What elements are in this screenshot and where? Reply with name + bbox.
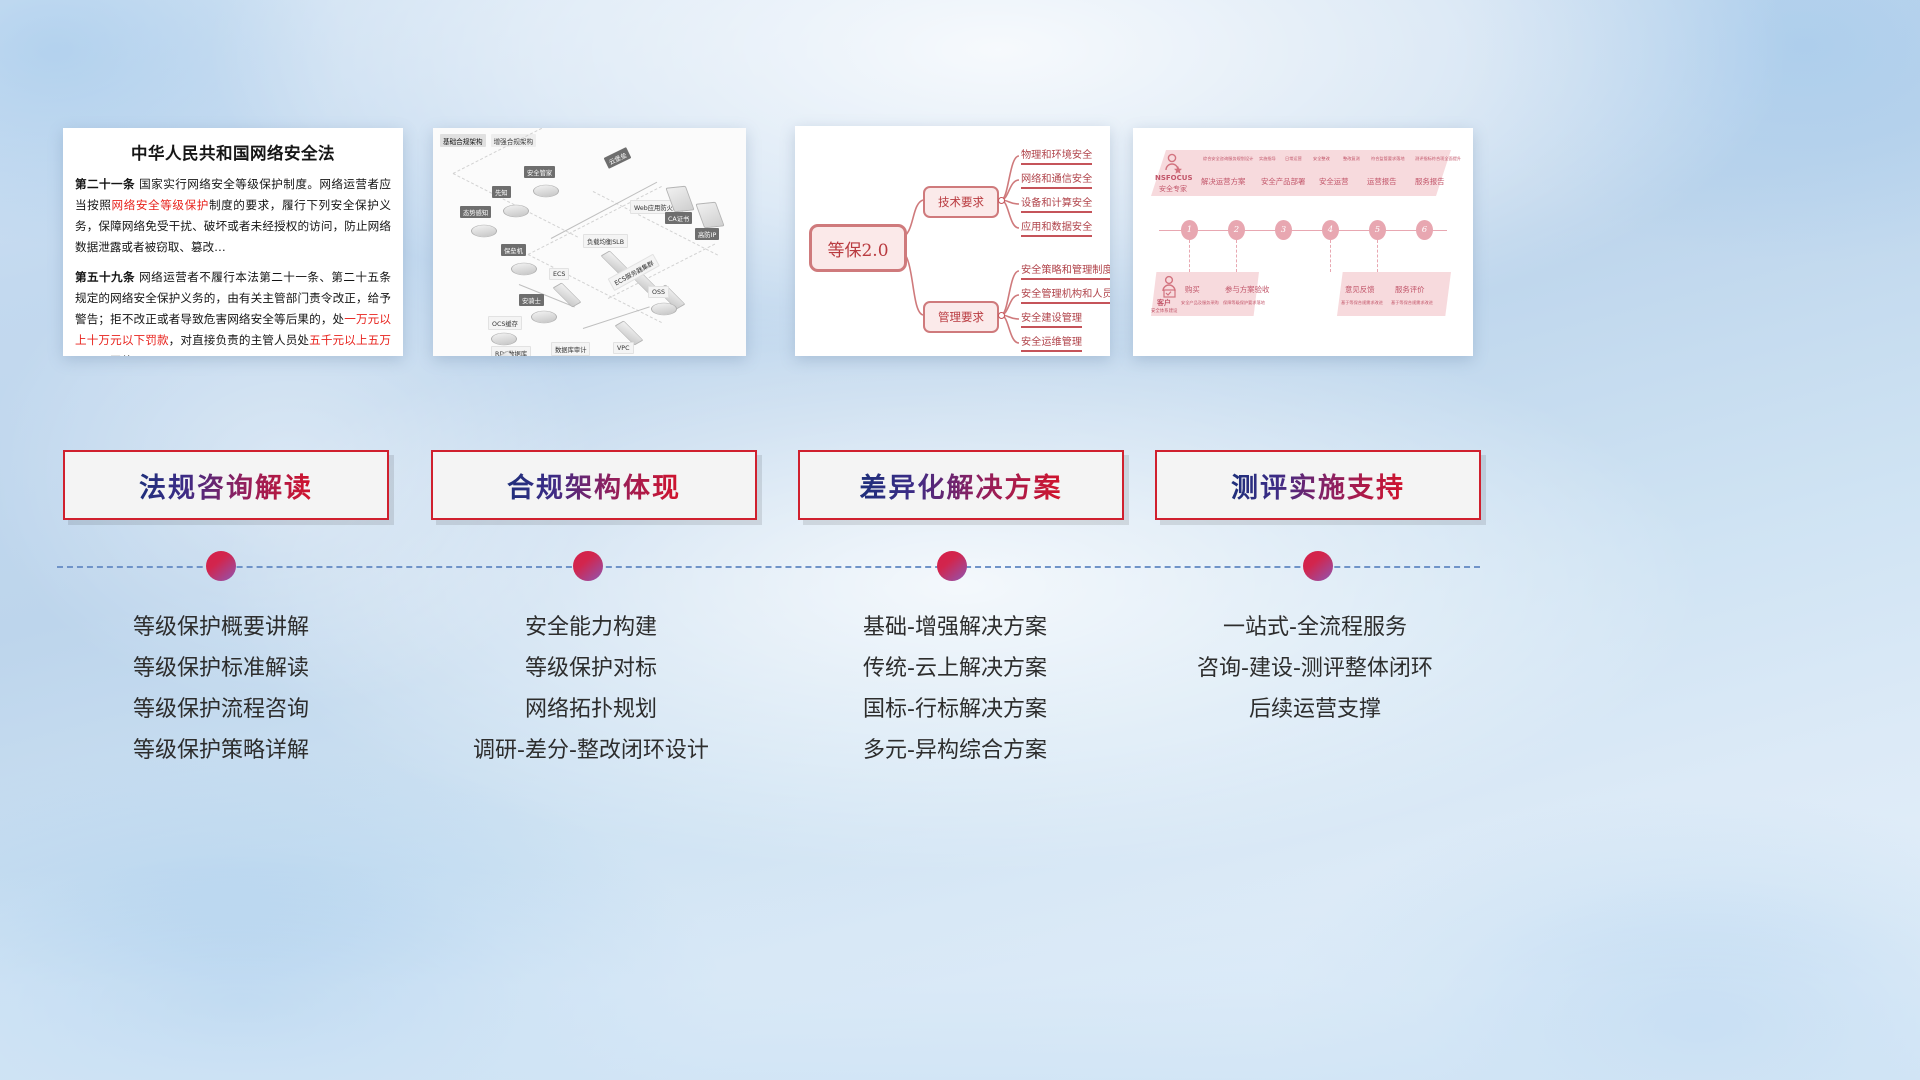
arch-node-xianzhi — [503, 198, 529, 224]
timeline-step-4[interactable]: 4 — [1322, 220, 1339, 240]
timeline-customer-sub: 安全体系建设 — [1151, 308, 1177, 314]
arch-node-ca — [669, 186, 691, 212]
list-item: 等级保护标准解读 — [41, 648, 401, 689]
timeline-bottom-item-0: 购买 — [1185, 284, 1200, 295]
banner-label: 合规架构体现 — [507, 466, 681, 505]
mindmap-leaf-operations: 安全运维管理 — [1021, 333, 1082, 352]
banner-label: 法规咨询解读 — [139, 466, 313, 505]
law-body: 第二十一条 国家实行网络安全等级保护制度。网络运营者应当按照网络安全等级保护制度… — [63, 174, 403, 356]
list-item: 传统-云上解决方案 — [775, 648, 1135, 689]
list-item: 等级保护策略详解 — [41, 730, 401, 771]
arch-label-oss: OSS — [648, 286, 669, 298]
banner-assessment-support[interactable]: 测评实施支持 — [1155, 450, 1481, 520]
list-item: 一站式-全流程服务 — [1135, 607, 1495, 648]
mindmap-canvas: 等保2.0 技术要求 物理和环境安全 网络和通信安全 设备和计算安全 应用和数据… — [795, 126, 1110, 356]
timeline-drop-3 — [1330, 240, 1332, 272]
timeline-bottom-sub-0: 安全产品及服务采购 — [1181, 300, 1219, 306]
arch-label-vpc: VPC — [613, 342, 634, 354]
timeline-step-6[interactable]: 6 — [1416, 220, 1433, 240]
arch-node-gaofangip — [699, 202, 721, 228]
arch-label-situation-awareness: 态势感知 — [460, 206, 491, 218]
column-compliance-architecture: 安全能力构建 等级保护对标 网络拓扑规划 调研-差分-整改闭环设计 — [411, 607, 771, 771]
column-regulation-consulting: 等级保护概要讲解 等级保护标准解读 等级保护流程咨询 等级保护策略详解 — [41, 607, 401, 771]
mindmap-leaf-construction: 安全建设管理 — [1021, 309, 1082, 328]
architecture-tabs[interactable]: 基础合规架构 增强合规架构 — [440, 134, 536, 147]
timeline-brand-sub: 安全专家 — [1159, 184, 1187, 194]
law-preview-card[interactable]: 中华人民共和国网络安全法 第二十一条 国家实行网络安全等级保护制度。网络运营者应… — [63, 128, 403, 356]
banner-label: 差异化解决方案 — [860, 466, 1063, 505]
arch-label-security-butler: 安全管家 — [524, 166, 555, 178]
list-item: 调研-差分-整改闭环设计 — [411, 730, 771, 771]
banner-differentiated-solution[interactable]: 差异化解决方案 — [798, 450, 1124, 520]
law-p2-text-mid: ，对直接负责的主管人员处 — [169, 333, 309, 347]
timeline-top-item-0: 综合安全咨询服务规划设计 — [1203, 156, 1253, 162]
arch-tab-enhanced[interactable]: 增强合规架构 — [491, 134, 537, 147]
timeline-step-label-4: 服务报告 — [1415, 176, 1445, 187]
law-p1-highlight: 网络安全等级保护 — [112, 198, 209, 212]
law-article-59-label: 第五十九条 — [75, 270, 135, 284]
timeline-top-item-5: 符合监管要求落地 — [1371, 156, 1405, 162]
list-item: 基础-增强解决方案 — [775, 607, 1135, 648]
background-bottom-fade — [0, 870, 1920, 1080]
timeline-bottom-item-1: 参与方案验收 — [1225, 284, 1269, 295]
law-p2-text-end: 罚款。 — [110, 354, 145, 356]
timeline-step-1[interactable]: 1 — [1181, 220, 1198, 240]
timeline-drop-1 — [1189, 240, 1191, 272]
arch-label-gaofangip: 高防IP — [695, 228, 719, 240]
mindmap-leaf-device-compute: 设备和计算安全 — [1021, 194, 1092, 213]
list-item: 咨询-建设-测评整体闭环 — [1135, 648, 1495, 689]
timeline-drop-2 — [1236, 240, 1238, 272]
mindmap-leaf-policy-system: 安全策略和管理制度 — [1021, 261, 1110, 280]
timeline-top-item-4: 整改复测 — [1343, 156, 1360, 162]
list-item: 多元-异构综合方案 — [775, 730, 1135, 771]
arch-label-db-audit: 数据库审计 — [551, 342, 590, 356]
timeline-node-4[interactable] — [1303, 551, 1333, 581]
column-differentiated-solution: 基础-增强解决方案 传统-云上解决方案 国标-行标解决方案 多元-异构综合方案 — [775, 607, 1135, 771]
timeline-step-label-3: 运营报告 — [1367, 176, 1397, 187]
timeline-dashed-rule — [57, 566, 1480, 568]
person-expert-icon — [1161, 152, 1185, 176]
mindmap-leaf-org-personnel: 安全管理机构和人员 — [1021, 285, 1110, 304]
mindmap-preview-card[interactable]: 等保2.0 技术要求 物理和环境安全 网络和通信安全 设备和计算安全 应用和数据… — [795, 126, 1110, 356]
mindmap-collapse-dot[interactable] — [998, 312, 1005, 319]
mindmap-root-node[interactable]: 等保2.0 — [809, 224, 907, 272]
timeline-step-3[interactable]: 3 — [1275, 220, 1292, 240]
arch-node-ocs — [491, 326, 517, 352]
arch-label-slb: 负载均衡SLB — [583, 234, 628, 248]
timeline-top-item-1: 实施指导 — [1259, 156, 1276, 162]
timeline-bottom-sub-1: 保障等级保护要求落地 — [1223, 300, 1265, 306]
mindmap-collapse-dot[interactable] — [998, 197, 1005, 204]
timeline-step-label-2: 安全运营 — [1319, 176, 1349, 187]
law-article-21-label: 第二十一条 — [75, 177, 135, 191]
mindmap-leaf-app-data: 应用和数据安全 — [1021, 218, 1092, 237]
timeline-customer-label: 客户 — [1157, 298, 1171, 308]
architecture-preview-card[interactable]: 基础合规架构 增强合规架构 云堡垒 安全管家 先知 态势感知 保垒机 ECS 安… — [433, 128, 746, 356]
timeline-rail — [1159, 230, 1447, 231]
timeline-step-label-0: 解决运营方案 — [1201, 176, 1245, 187]
arch-node-situation-awareness — [471, 218, 497, 244]
banner-compliance-architecture[interactable]: 合规架构体现 — [431, 450, 757, 520]
arch-label-ca: CA证书 — [665, 212, 692, 224]
timeline-node-3[interactable] — [937, 551, 967, 581]
service-timeline-canvas: NSFOCUS 安全专家 综合安全咨询服务规划设计 实施指导 日常运营 安全整改… — [1133, 128, 1473, 356]
timeline-top-item-6: 测评指标符合项全面提升 — [1415, 156, 1461, 162]
list-item: 等级保护概要讲解 — [41, 607, 401, 648]
list-item: 安全能力构建 — [411, 607, 771, 648]
column-assessment-support: 一站式-全流程服务 咨询-建设-测评整体闭环 后续运营支撑 — [1135, 607, 1495, 730]
timeline-top-item-2: 日常运营 — [1285, 156, 1302, 162]
timeline-drop-4 — [1377, 240, 1379, 272]
timeline-node-2[interactable] — [573, 551, 603, 581]
banner-label: 测评实施支持 — [1231, 466, 1405, 505]
law-title: 中华人民共和国网络安全法 — [63, 140, 403, 164]
timeline-bottom-sub-3: 基于等保合规需求改进 — [1391, 300, 1433, 306]
arch-node-bastion-host — [511, 256, 537, 282]
list-item: 后续运营支撑 — [1135, 689, 1495, 730]
arch-label-xianzhi: 先知 — [492, 186, 511, 198]
timeline-top-item-3: 安全整改 — [1313, 156, 1330, 162]
arch-node-oss — [651, 296, 677, 322]
mindmap-branch-technical[interactable]: 技术要求 — [923, 186, 999, 218]
arch-node-ecs — [553, 286, 581, 304]
arch-label-cloud-bastion: 云堡垒 — [604, 147, 632, 169]
timeline-node-1[interactable] — [206, 551, 236, 581]
mindmap-leaf-physical-env: 物理和环境安全 — [1021, 146, 1092, 165]
list-item: 国标-行标解决方案 — [775, 689, 1135, 730]
arch-node-vpc — [615, 324, 643, 342]
list-item: 网络拓扑规划 — [411, 689, 771, 730]
arch-label-ecs: ECS — [549, 268, 569, 280]
list-item: 等级保护对标 — [411, 648, 771, 689]
arch-node-rds — [499, 354, 527, 356]
mindmap-leaf-network-comm: 网络和通信安全 — [1021, 170, 1092, 189]
timeline-brand: NSFOCUS — [1155, 174, 1193, 182]
person-customer-icon — [1159, 274, 1181, 298]
timeline-bottom-item-2: 意见反馈 — [1345, 284, 1375, 295]
service-timeline-preview-card[interactable]: NSFOCUS 安全专家 综合安全咨询服务规划设计 实施指导 日常运营 安全整改… — [1133, 128, 1473, 356]
timeline-step-2[interactable]: 2 — [1228, 220, 1245, 240]
arch-node-security-butler — [533, 178, 559, 204]
architecture-canvas: 基础合规架构 增强合规架构 云堡垒 安全管家 先知 态势感知 保垒机 ECS 安… — [433, 128, 746, 356]
arch-label-bastion-host: 保垒机 — [501, 244, 526, 256]
mindmap-branch-management[interactable]: 管理要求 — [923, 301, 999, 333]
list-item: 等级保护流程咨询 — [41, 689, 401, 730]
arch-tab-basic[interactable]: 基础合规架构 — [440, 134, 486, 147]
arch-label-anqishi: 安骑士 — [519, 294, 544, 306]
timeline-bottom-item-3: 服务评价 — [1395, 284, 1425, 295]
arch-node-anqishi — [531, 304, 557, 330]
law-paragraph-2: 第五十九条 网络运营者不履行本法第二十一条、第二十五条规定的网络安全保护义务的，… — [75, 267, 391, 356]
timeline-step-5[interactable]: 5 — [1369, 220, 1386, 240]
timeline-step-label-1: 安全产品部署 — [1261, 176, 1305, 187]
law-paragraph-1: 第二十一条 国家实行网络安全等级保护制度。网络运营者应当按照网络安全等级保护制度… — [75, 174, 391, 258]
timeline-bottom-sub-2: 基于等保合规需求改进 — [1341, 300, 1383, 306]
banner-regulation-consulting[interactable]: 法规咨询解读 — [63, 450, 389, 520]
